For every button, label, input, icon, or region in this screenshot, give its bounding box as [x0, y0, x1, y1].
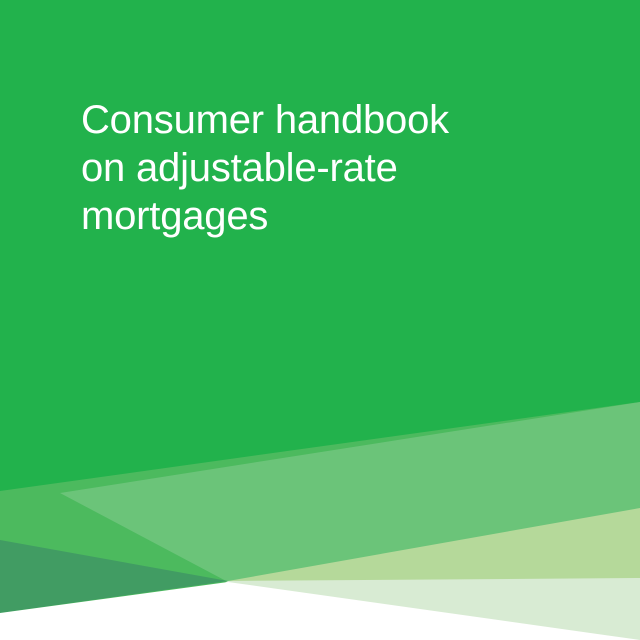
title-line-3: mortgages: [81, 192, 501, 240]
page-title: Consumer handbook on adjustable-rate mor…: [81, 96, 501, 240]
publication-cover: Consumer handbook on adjustable-rate mor…: [0, 0, 640, 640]
title-line-2: on adjustable-rate: [81, 144, 501, 192]
title-line-1: Consumer handbook: [81, 96, 501, 144]
